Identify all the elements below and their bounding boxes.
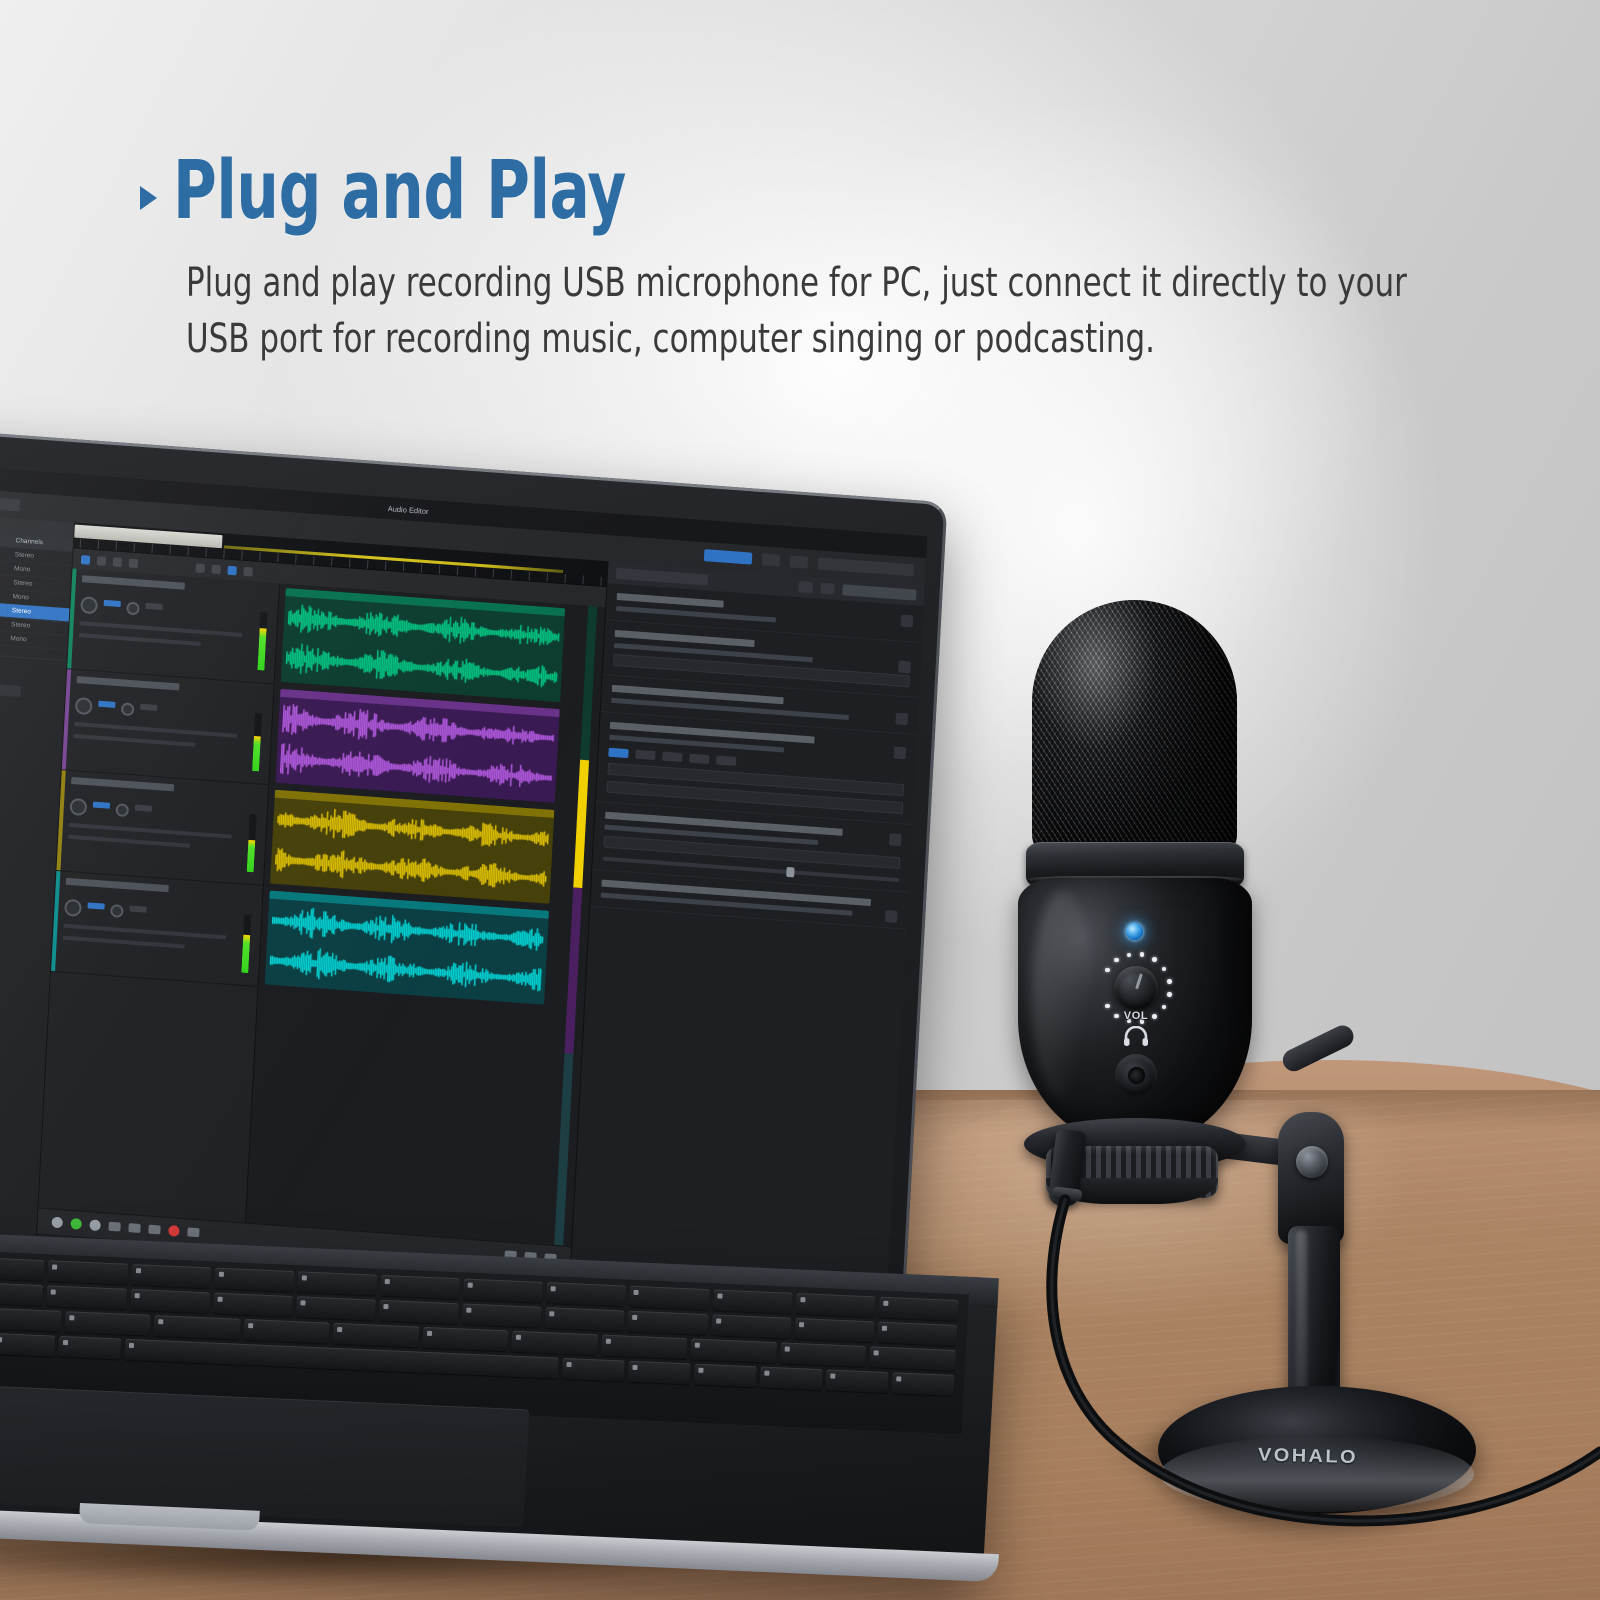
keyboard-key[interactable] — [628, 1311, 708, 1335]
track-solo-button[interactable] — [145, 603, 162, 610]
volume-knob[interactable] — [1114, 966, 1158, 1010]
track-solo-button[interactable] — [129, 905, 146, 912]
keyboard-key[interactable] — [297, 1271, 377, 1295]
inspector-icon[interactable] — [798, 581, 813, 593]
volume-ring-dot — [1105, 968, 1110, 973]
ruler-tick — [313, 556, 314, 565]
keyboard-key[interactable] — [131, 1264, 211, 1288]
cut-tool-icon[interactable] — [113, 557, 122, 567]
inspector-input[interactable] — [603, 836, 900, 869]
ruler-tick — [457, 566, 458, 575]
keyboard-key[interactable] — [712, 1289, 792, 1313]
browser-field[interactable] — [0, 676, 21, 697]
keyboard-key[interactable] — [48, 1260, 128, 1284]
ruler-tick — [259, 552, 260, 561]
arrange-area[interactable] — [33, 523, 607, 1343]
triangle-right-icon — [140, 186, 157, 210]
keyboard-key[interactable] — [0, 1333, 55, 1357]
inspector-icon[interactable] — [820, 582, 835, 594]
ruler-tick — [600, 577, 601, 586]
ruler-tick — [116, 542, 117, 551]
browser-preview-panel — [0, 647, 67, 708]
keyboard-key[interactable] — [154, 1315, 241, 1340]
keyboard-key[interactable] — [0, 1307, 61, 1332]
toolbar-control[interactable] — [762, 553, 781, 566]
keyboard-key[interactable] — [64, 1311, 151, 1336]
keyboard-key[interactable] — [891, 1372, 954, 1396]
microphone-grille — [1032, 600, 1237, 860]
keyboard-key[interactable] — [46, 1285, 126, 1309]
track-header[interactable] — [56, 770, 268, 886]
volume-ring-dot — [1167, 992, 1172, 997]
ruler-tick — [385, 561, 386, 570]
keyboard-key[interactable] — [463, 1278, 543, 1302]
keyboard-key[interactable] — [562, 1358, 625, 1382]
volume-ring-dot — [1162, 967, 1167, 972]
hinge-bolt-icon[interactable] — [1296, 1146, 1328, 1178]
track-name — [82, 575, 185, 589]
ruler-tick — [98, 540, 99, 549]
play-button[interactable] — [70, 1218, 82, 1230]
keyboard-key[interactable] — [601, 1335, 688, 1360]
ruler-tick — [367, 560, 368, 569]
keyboard-key[interactable] — [243, 1319, 330, 1344]
banner-description: Plug and play recording USB microphone f… — [186, 255, 1416, 369]
ruler-tick — [547, 573, 548, 582]
ruler-tick — [564, 574, 565, 583]
track-mute-button[interactable] — [98, 701, 115, 708]
banner-text-block: Plug and Play Plug and play recording US… — [140, 150, 1410, 368]
keyboard-key[interactable] — [422, 1327, 509, 1352]
zoom-tool-icon[interactable] — [97, 556, 106, 566]
page-title: Plug and Play — [173, 150, 626, 233]
volume-ring-dot — [1162, 1005, 1167, 1010]
volume-label: VOL — [1114, 1010, 1158, 1022]
browser-table[interactable]: NameRateChannelsTake 0148000 HzStereoTak… — [0, 525, 73, 650]
ruler-tick — [134, 543, 135, 552]
keyboard-key[interactable] — [826, 1369, 889, 1393]
toolbar-control[interactable] — [818, 557, 914, 576]
keyboard-key[interactable] — [333, 1323, 420, 1348]
tilt-lever-icon[interactable] — [1279, 1022, 1357, 1075]
audio-clip[interactable] — [275, 689, 559, 803]
keyboard-key[interactable] — [214, 1268, 294, 1292]
keyboard-key[interactable] — [545, 1307, 625, 1331]
track-list[interactable] — [38, 568, 605, 1246]
inspector-toggle[interactable] — [716, 756, 736, 766]
keyboard-key[interactable] — [462, 1303, 542, 1327]
track-header[interactable] — [67, 568, 279, 684]
heading-row: Plug and Play — [140, 150, 1410, 233]
keyboard-key[interactable] — [296, 1296, 376, 1320]
track-slider[interactable] — [74, 734, 196, 747]
grille-shading — [1032, 600, 1237, 860]
brand-logo: VOHALO — [1258, 1445, 1418, 1470]
inspector-icon[interactable] — [889, 833, 902, 846]
loop-button[interactable] — [148, 1225, 160, 1235]
ruler-tick — [223, 549, 224, 558]
inspector-panel[interactable] — [566, 561, 925, 1365]
keyboard-key[interactable] — [379, 1300, 459, 1324]
keyboard-key[interactable] — [380, 1275, 460, 1299]
ruler-tick — [151, 544, 152, 553]
pause-button[interactable] — [89, 1219, 101, 1231]
inspector-title — [616, 567, 708, 585]
toolbar-control[interactable] — [0, 497, 20, 512]
ruler-tick — [331, 557, 332, 566]
volume-ring-dot — [1127, 953, 1132, 958]
inspector-icon[interactable] — [895, 712, 908, 725]
inspector-toggle[interactable] — [635, 750, 655, 760]
inspector-icon[interactable] — [894, 746, 907, 759]
volume-ring-dot — [1140, 952, 1145, 957]
track-lanes[interactable] — [246, 584, 605, 1247]
track-pan-knob[interactable] — [126, 601, 140, 615]
section-sublabel — [616, 606, 776, 623]
inspector-toggle[interactable] — [689, 754, 709, 764]
usb-microphone: VOHALO VOL — [1010, 590, 1440, 1530]
scene-stage: Plug and Play Plug and play recording US… — [0, 0, 1600, 1600]
ruler-tick — [439, 565, 440, 574]
keyboard-key[interactable] — [760, 1366, 823, 1390]
track-name — [76, 676, 179, 690]
keyboard-key[interactable] — [58, 1336, 121, 1360]
inspector-icon[interactable] — [901, 615, 914, 628]
keyboard-key[interactable] — [794, 1318, 874, 1342]
metronome-icon[interactable] — [243, 566, 252, 576]
keyboard-key[interactable] — [511, 1331, 598, 1356]
keyboard-key[interactable] — [0, 1282, 44, 1306]
pointer-tool-icon[interactable] — [81, 555, 90, 565]
ruler-tick — [582, 575, 583, 584]
ruler-tick — [205, 548, 206, 557]
track-gain-knob[interactable] — [69, 798, 87, 816]
toolbar-control[interactable] — [790, 555, 809, 568]
microphone-body-highlight — [1032, 890, 1094, 1100]
keyboard-key[interactable] — [546, 1282, 626, 1306]
ruler-tick — [403, 562, 404, 571]
track-gain-knob[interactable] — [80, 596, 98, 614]
track-solo-button[interactable] — [140, 704, 157, 711]
ruler-tick — [169, 545, 170, 554]
ruler-tick — [187, 547, 188, 556]
track-pan-knob[interactable] — [115, 803, 129, 817]
grid-icon[interactable] — [211, 564, 220, 574]
section-label — [617, 593, 724, 608]
ruler-tick — [349, 558, 350, 567]
track-slider[interactable] — [79, 633, 201, 646]
loop-icon[interactable] — [227, 565, 236, 575]
headphone-jack[interactable] — [1115, 1054, 1157, 1096]
track-header[interactable] — [51, 871, 263, 987]
ruler-tick — [277, 553, 278, 562]
track-mute-button[interactable] — [104, 600, 121, 607]
track-solo-button[interactable] — [135, 805, 152, 812]
keyboard-key[interactable] — [795, 1293, 875, 1317]
keyboard-key[interactable] — [878, 1297, 958, 1321]
power-led-icon — [1126, 923, 1143, 940]
track-mute-button[interactable] — [93, 802, 110, 809]
daw-application: Audio Editor — [0, 461, 927, 1365]
laptop: Audio Editor — [0, 425, 1010, 1505]
ruler-tick — [475, 568, 476, 577]
track-slider[interactable] — [68, 835, 190, 848]
laptop-screen: Audio Editor — [0, 461, 927, 1365]
window-title: Audio Editor — [388, 504, 429, 516]
keyboard-key[interactable] — [711, 1314, 791, 1338]
record-button[interactable] — [168, 1225, 180, 1237]
forward-button[interactable] — [128, 1223, 140, 1233]
apply-button[interactable] — [842, 584, 916, 600]
volume-ring-dot — [1105, 1004, 1110, 1009]
rewind-button[interactable] — [108, 1222, 120, 1232]
ruler-tick — [421, 564, 422, 573]
inspector-toggle[interactable] — [608, 748, 628, 758]
headphone-icon — [1123, 1026, 1149, 1046]
volume-ring-dot — [1114, 958, 1119, 963]
ruler-tick — [80, 539, 81, 548]
tilt-hinge[interactable] — [1278, 1112, 1344, 1244]
keyboard-key[interactable] — [0, 1257, 45, 1281]
keyboard-key[interactable] — [869, 1346, 956, 1371]
keyboard-key[interactable] — [129, 1289, 209, 1313]
ruler-tick — [511, 570, 512, 579]
ruler-tick — [493, 569, 494, 578]
track-pan-knob[interactable] — [121, 702, 135, 716]
track-name — [66, 878, 169, 892]
track-gain-knob[interactable] — [64, 899, 82, 917]
keyboard-key[interactable] — [690, 1338, 777, 1363]
ruler-tick — [241, 551, 242, 560]
track-mute-button[interactable] — [87, 902, 104, 909]
volume-ring-dot — [1167, 979, 1172, 984]
draw-tool-icon[interactable] — [129, 558, 138, 568]
track-pan-knob[interactable] — [110, 904, 124, 918]
ruler-tick — [529, 572, 530, 581]
inspector-icon[interactable] — [898, 661, 911, 674]
keyboard-key[interactable] — [694, 1364, 757, 1388]
volume-ring-dot — [1152, 957, 1157, 962]
keyboard-key[interactable] — [628, 1361, 691, 1385]
audio-clip[interactable] — [281, 588, 565, 702]
audio-clip[interactable] — [270, 790, 554, 904]
track-header[interactable] — [62, 669, 274, 785]
ruler-tick — [295, 555, 296, 564]
snap-icon[interactable] — [196, 563, 205, 573]
stop-button[interactable] — [51, 1217, 63, 1229]
mute-button[interactable] — [187, 1227, 199, 1237]
keyboard-key[interactable] — [213, 1293, 293, 1317]
keyboard-key[interactable] — [877, 1322, 957, 1346]
inspector-icon[interactable] — [885, 910, 898, 923]
tab-record[interactable] — [704, 549, 753, 564]
inspector-toggle[interactable] — [662, 752, 682, 762]
track-slider[interactable] — [63, 936, 185, 949]
audio-clip[interactable] — [265, 891, 549, 1005]
track-name — [71, 777, 174, 791]
track-gain-knob[interactable] — [75, 697, 93, 715]
track-headers[interactable] — [38, 568, 280, 1222]
keyboard-key[interactable] — [629, 1286, 709, 1310]
keyboard-key[interactable] — [780, 1342, 867, 1367]
